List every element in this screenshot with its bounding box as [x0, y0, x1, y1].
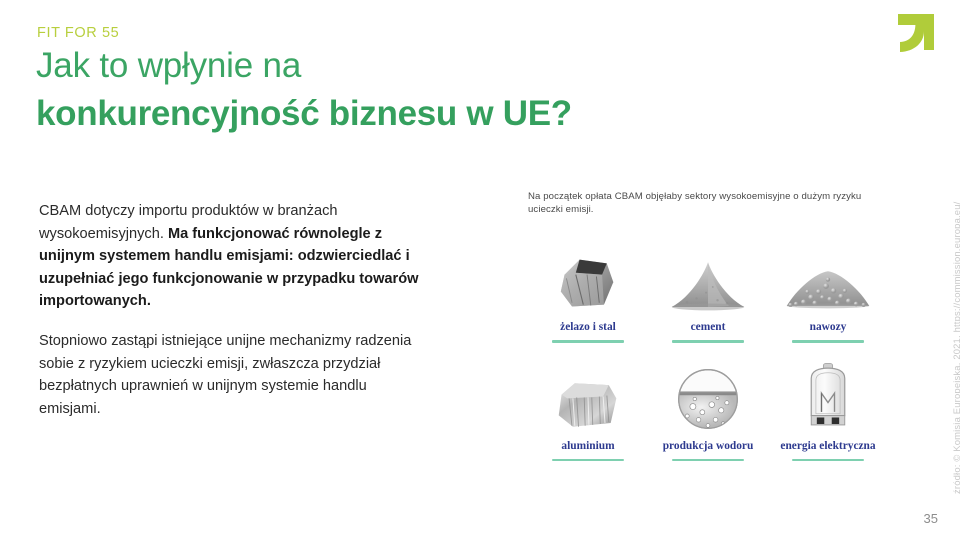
- light-bulb-icon: [768, 355, 888, 433]
- sector-cell: aluminium: [528, 355, 648, 462]
- page-title-line2: konkurencyjność biznesu w UE?: [36, 94, 572, 134]
- hydrogen-sphere-icon: [648, 355, 768, 433]
- infographic-caption: Na początek opłata CBAM objęłaby sektory…: [528, 190, 878, 216]
- sector-label: aluminium: [561, 440, 614, 452]
- sector-cell: energia elektryczna: [768, 355, 888, 462]
- paragraph-1: CBAM dotyczy importu produktów w branżac…: [39, 200, 429, 313]
- sector-underline: [552, 340, 624, 343]
- page-number: 35: [924, 511, 938, 526]
- sector-underline: [672, 340, 744, 343]
- eyebrow-label: FIT FOR 55: [37, 25, 119, 41]
- iron-ore-rock-icon: [528, 236, 648, 314]
- sector-label: nawozy: [810, 321, 847, 333]
- sector-grid: żelazo i stal: [528, 236, 888, 461]
- slide-root: FIT FOR 55 Jak to wpłynie na konkurencyj…: [0, 0, 960, 540]
- aluminium-block-icon: [528, 355, 648, 433]
- sector-underline: [552, 459, 624, 462]
- fertilizer-granules-icon: [768, 236, 888, 314]
- sector-label: cement: [691, 321, 726, 333]
- sector-cell: cement: [648, 236, 768, 343]
- sector-label: produkcja wodoru: [663, 440, 754, 452]
- arrow-up-right-logo: [886, 10, 938, 62]
- body-text-column: CBAM dotyczy importu produktów w branżac…: [39, 200, 429, 420]
- paragraph-2: Stopniowo zastąpi istniejące unijne mech…: [39, 330, 429, 420]
- cement-pile-icon: [648, 236, 768, 314]
- sector-underline: [792, 340, 864, 343]
- sector-underline: [672, 459, 744, 462]
- sector-cell: produkcja wodoru: [648, 355, 768, 462]
- sector-cell: żelazo i stal: [528, 236, 648, 343]
- page-title-line1: Jak to wpłynie na: [36, 46, 301, 86]
- source-note: źródło: © Komisja Europejska, 2021, http…: [938, 186, 954, 496]
- sector-label: żelazo i stal: [560, 321, 616, 333]
- sector-label: energia elektryczna: [780, 440, 875, 452]
- sector-cell: nawozy: [768, 236, 888, 343]
- source-note-text: źródło: © Komisja Europejska, 2021, http…: [951, 202, 960, 494]
- sector-underline: [792, 459, 864, 462]
- infographic-panel: Na początek opłata CBAM objęłaby sektory…: [528, 190, 888, 461]
